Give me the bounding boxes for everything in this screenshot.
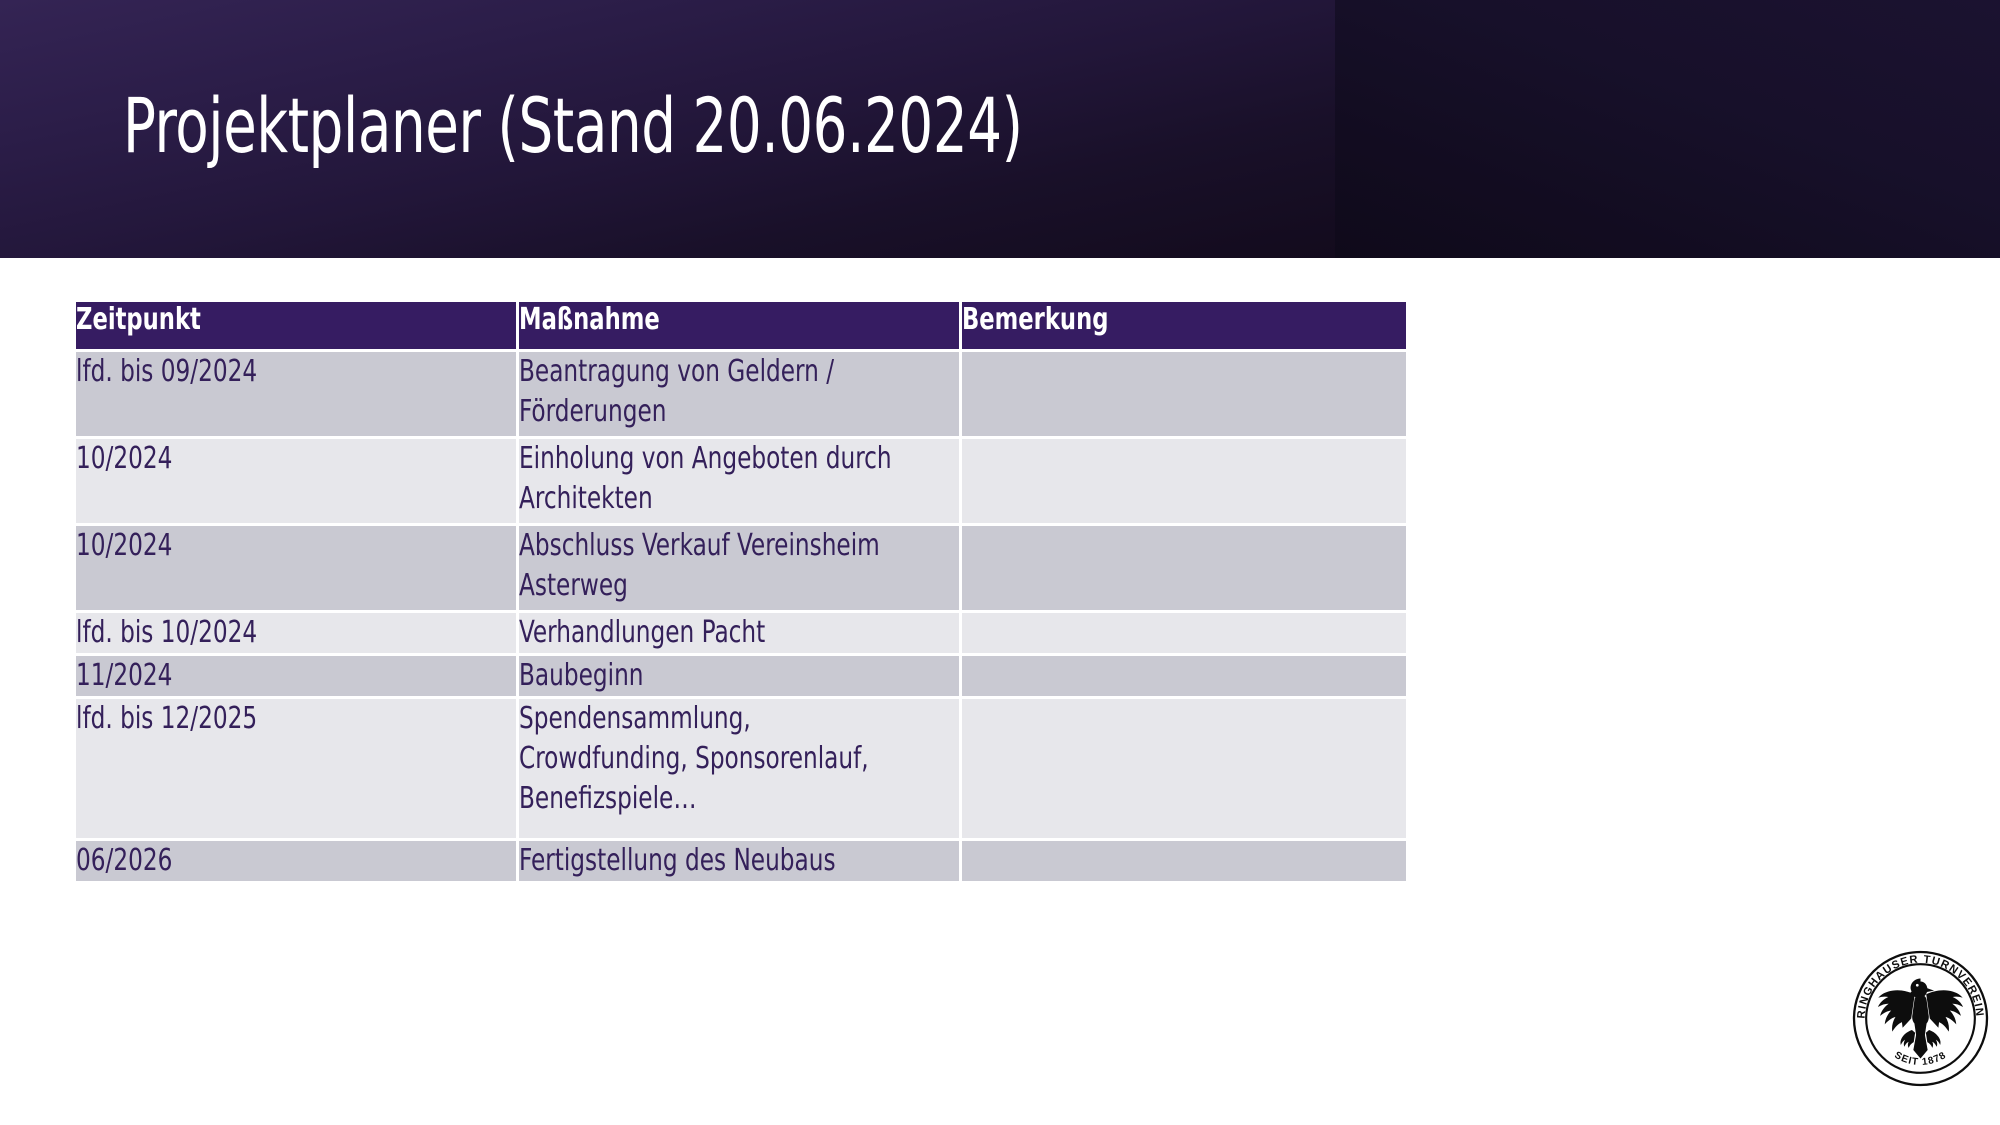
- table-body: lfd. bis 09/2024 Beantragung von Geldern…: [76, 352, 1406, 881]
- table-row: lfd. bis 12/2025 Spendensammlung, Crowdf…: [76, 699, 1406, 838]
- cell-bemerkung: [962, 352, 1406, 436]
- cell-massnahme: Beantragung von Geldern / Förderungen: [519, 352, 959, 436]
- cell-bemerkung: [962, 439, 1406, 523]
- cell-massnahme-text: Einholung von Angeboten durch Architekte…: [519, 439, 897, 519]
- club-crest-logo: DABRINGHAUSER TURNVEREIN E.V. SEIT 1878: [1849, 947, 1992, 1090]
- cell-zeitpunkt: 11/2024: [76, 656, 516, 696]
- cell-massnahme: Einholung von Angeboten durch Architekte…: [519, 439, 959, 523]
- table-row: 10/2024 Einholung von Angeboten durch Ar…: [76, 439, 1406, 523]
- cell-zeitpunkt-text: 10/2024: [76, 439, 454, 479]
- cell-bemerkung: [962, 656, 1406, 696]
- cell-zeitpunkt-text: lfd. bis 12/2025: [76, 699, 454, 739]
- cell-massnahme: Fertigstellung des Neubaus: [519, 841, 959, 881]
- table-row: lfd. bis 10/2024 Verhandlungen Pacht: [76, 613, 1406, 653]
- column-header-zeitpunkt-label: Zeitpunkt: [76, 302, 446, 337]
- project-planner-table: Zeitpunkt Maßnahme Bemerkung lfd. bis 09…: [73, 299, 1409, 884]
- cell-massnahme: Abschluss Verkauf Vereinsheim Asterweg: [519, 526, 959, 610]
- cell-massnahme: Verhandlungen Pacht: [519, 613, 959, 653]
- cell-zeitpunkt-text: 11/2024: [76, 656, 454, 696]
- column-header-bemerkung: Bemerkung: [962, 302, 1406, 349]
- cell-zeitpunkt: 10/2024: [76, 526, 516, 610]
- cell-zeitpunkt-text: lfd. bis 09/2024: [76, 352, 454, 392]
- cell-massnahme-text: Verhandlungen Pacht: [519, 613, 897, 653]
- page-title: Projektplaner (Stand 20.06.2024): [123, 84, 1023, 168]
- column-header-zeitpunkt: Zeitpunkt: [76, 302, 516, 349]
- cell-bemerkung: [962, 526, 1406, 610]
- column-header-massnahme-label: Maßnahme: [519, 302, 889, 337]
- table-header: Zeitpunkt Maßnahme Bemerkung: [76, 302, 1406, 349]
- column-header-bemerkung-label: Bemerkung: [962, 302, 1335, 337]
- table-row: lfd. bis 09/2024 Beantragung von Geldern…: [76, 352, 1406, 436]
- slide-header-banner: Projektplaner (Stand 20.06.2024): [0, 0, 2000, 258]
- table-row: 10/2024 Abschluss Verkauf Vereinsheim As…: [76, 526, 1406, 610]
- cell-zeitpunkt: lfd. bis 10/2024: [76, 613, 516, 653]
- table-row: 06/2026 Fertigstellung des Neubaus: [76, 841, 1406, 881]
- cell-zeitpunkt-text: 10/2024: [76, 526, 454, 566]
- cell-zeitpunkt-text: 06/2026: [76, 841, 454, 881]
- cell-massnahme-text: Fertigstellung des Neubaus: [519, 841, 897, 881]
- cell-massnahme: Spendensammlung, Crowdfunding, Sponsoren…: [519, 699, 959, 838]
- cell-massnahme-text: Beantragung von Geldern / Förderungen: [519, 352, 897, 432]
- table-row: 11/2024 Baubeginn: [76, 656, 1406, 696]
- cell-bemerkung: [962, 841, 1406, 881]
- cell-massnahme-text: Abschluss Verkauf Vereinsheim Asterweg: [519, 526, 897, 606]
- cell-massnahme-text: Spendensammlung, Crowdfunding, Sponsoren…: [519, 699, 897, 819]
- cell-zeitpunkt: 06/2026: [76, 841, 516, 881]
- cell-massnahme-text: Baubeginn: [519, 656, 897, 696]
- cell-bemerkung: [962, 613, 1406, 653]
- header-gradient-right: [1335, 0, 2000, 258]
- cell-zeitpunkt-text: lfd. bis 10/2024: [76, 613, 454, 653]
- cell-massnahme: Baubeginn: [519, 656, 959, 696]
- column-header-massnahme: Maßnahme: [519, 302, 959, 349]
- cell-zeitpunkt: lfd. bis 12/2025: [76, 699, 516, 838]
- cell-bemerkung: [962, 699, 1406, 838]
- cell-zeitpunkt: lfd. bis 09/2024: [76, 352, 516, 436]
- table-header-row: Zeitpunkt Maßnahme Bemerkung: [76, 302, 1406, 349]
- cell-zeitpunkt: 10/2024: [76, 439, 516, 523]
